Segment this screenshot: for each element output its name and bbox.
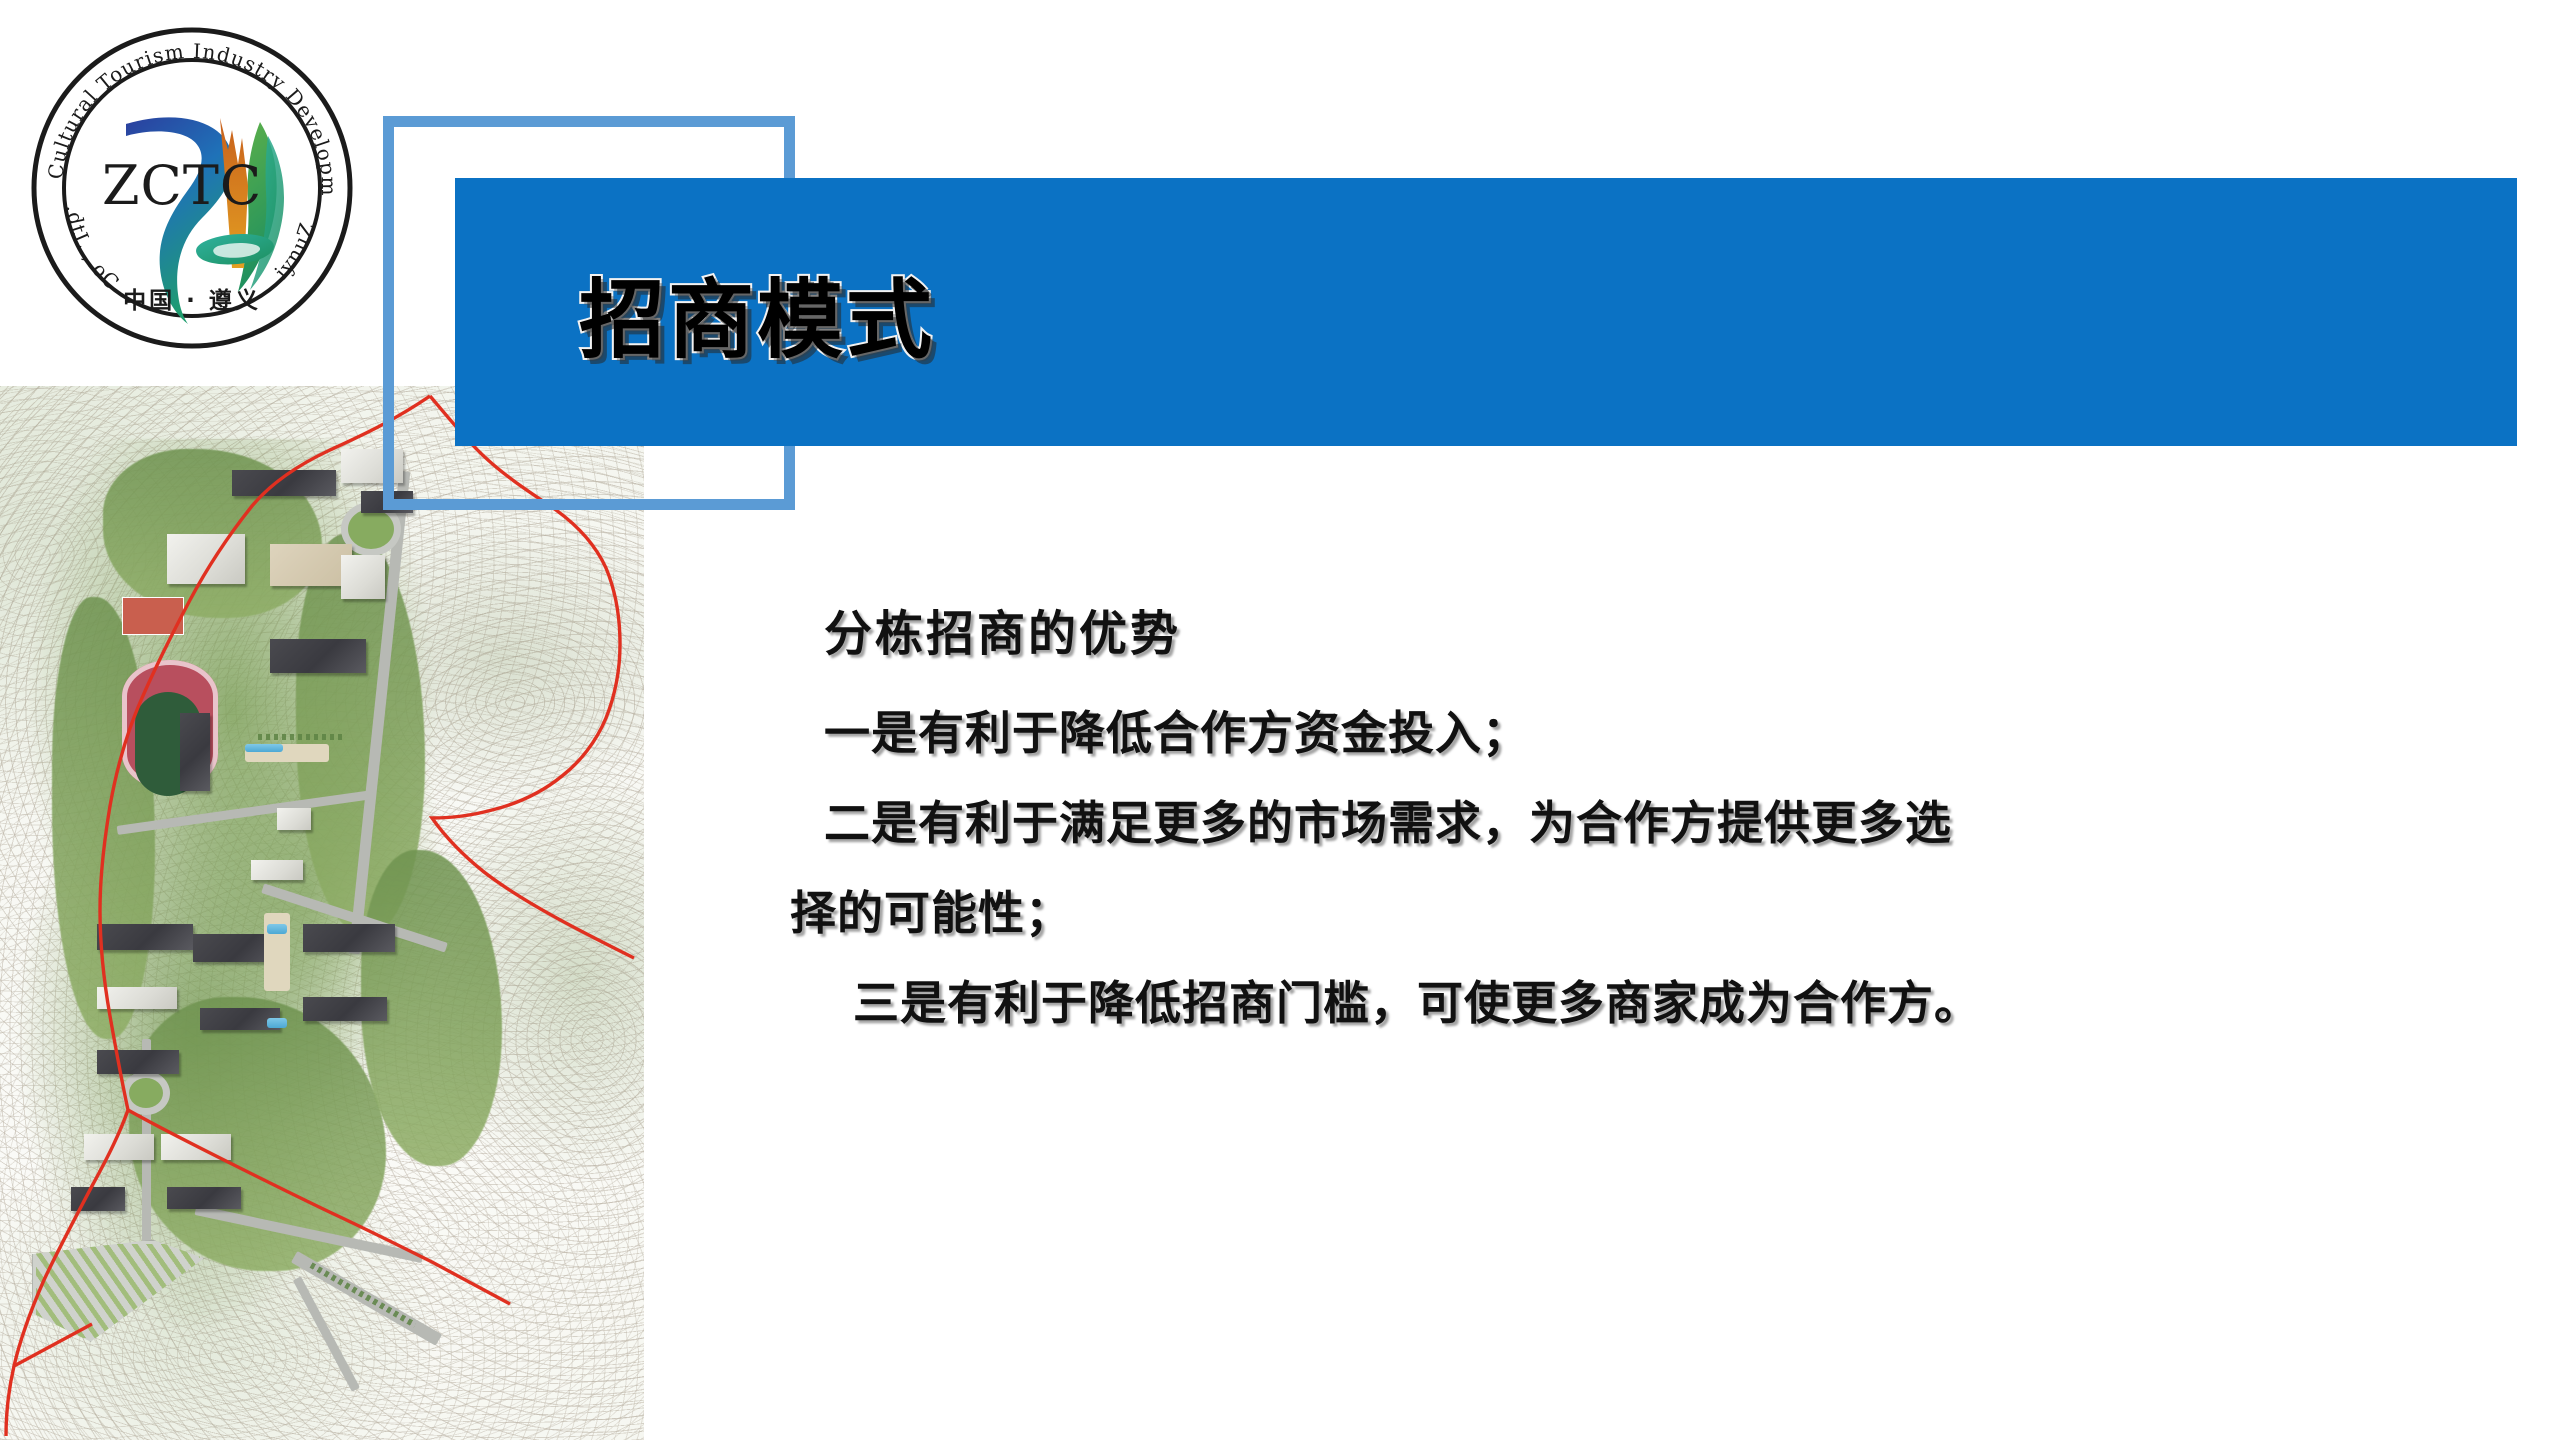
svg-text:中国 · 遵义: 中国 · 遵义: [123, 287, 261, 314]
body-heading: 分栋招商的优势: [824, 610, 2390, 658]
company-logo: Cultural Tourism Industry Development (G…: [22, 18, 362, 358]
site-boundary: [0, 386, 644, 1440]
body-line-2: 二是有利于满足更多的市场需求，为合作方提供更多选: [824, 800, 2390, 846]
slide-title: 招商模式: [579, 250, 935, 375]
body-text-block: 分栋招商的优势 一是有利于降低合作方资金投入； 二是有利于满足更多的市场需求，为…: [790, 610, 2390, 1070]
body-line-3: 择的可能性；: [790, 890, 2390, 936]
presentation-slide: Cultural Tourism Industry Development (G…: [0, 0, 2560, 1440]
svg-text:ZCTC: ZCTC: [102, 154, 262, 217]
body-line-4: 三是有利于降低招商门槛，可使更多商家成为合作方。: [836, 980, 2390, 1026]
title-band: 招商模式: [455, 178, 2517, 446]
site-plan-image: [0, 386, 644, 1440]
title-band-inner: 招商模式: [455, 178, 2517, 446]
body-line-1: 一是有利于降低合作方资金投入；: [824, 710, 2390, 756]
